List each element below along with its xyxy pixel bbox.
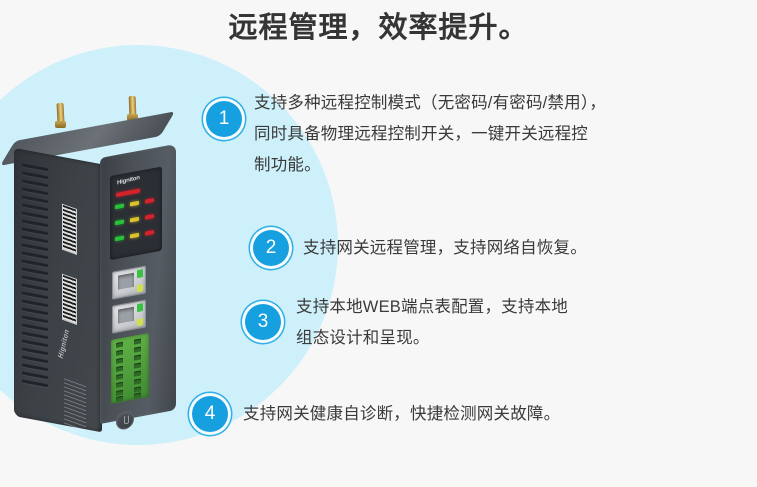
feature-number-badge: 1 — [206, 101, 242, 137]
feature-number-badge: 3 — [245, 304, 281, 340]
feature-text: 支持本地WEB端点表配置，支持本地 组态设计和呈现。 — [296, 292, 696, 354]
feature-number-badge: 2 — [253, 230, 289, 266]
feature-list: 1 支持多种远程控制模式（无密码/有密码/禁用）， 同时具备物理远程控制开关，一… — [0, 0, 757, 487]
feature-text: 支持网关健康自诊断，快捷检测网关故障。 — [243, 399, 703, 430]
feature-number-badge: 4 — [192, 396, 228, 432]
feature-text: 支持多种远程控制模式（无密码/有密码/禁用）， 同时具备物理远程控制开关，一键开… — [254, 88, 749, 181]
product-feature-banner: 远程管理，效率提升。 Higniton Higniton — [0, 0, 757, 487]
feature-text: 支持网关远程管理，支持网络自恢复。 — [303, 233, 733, 264]
